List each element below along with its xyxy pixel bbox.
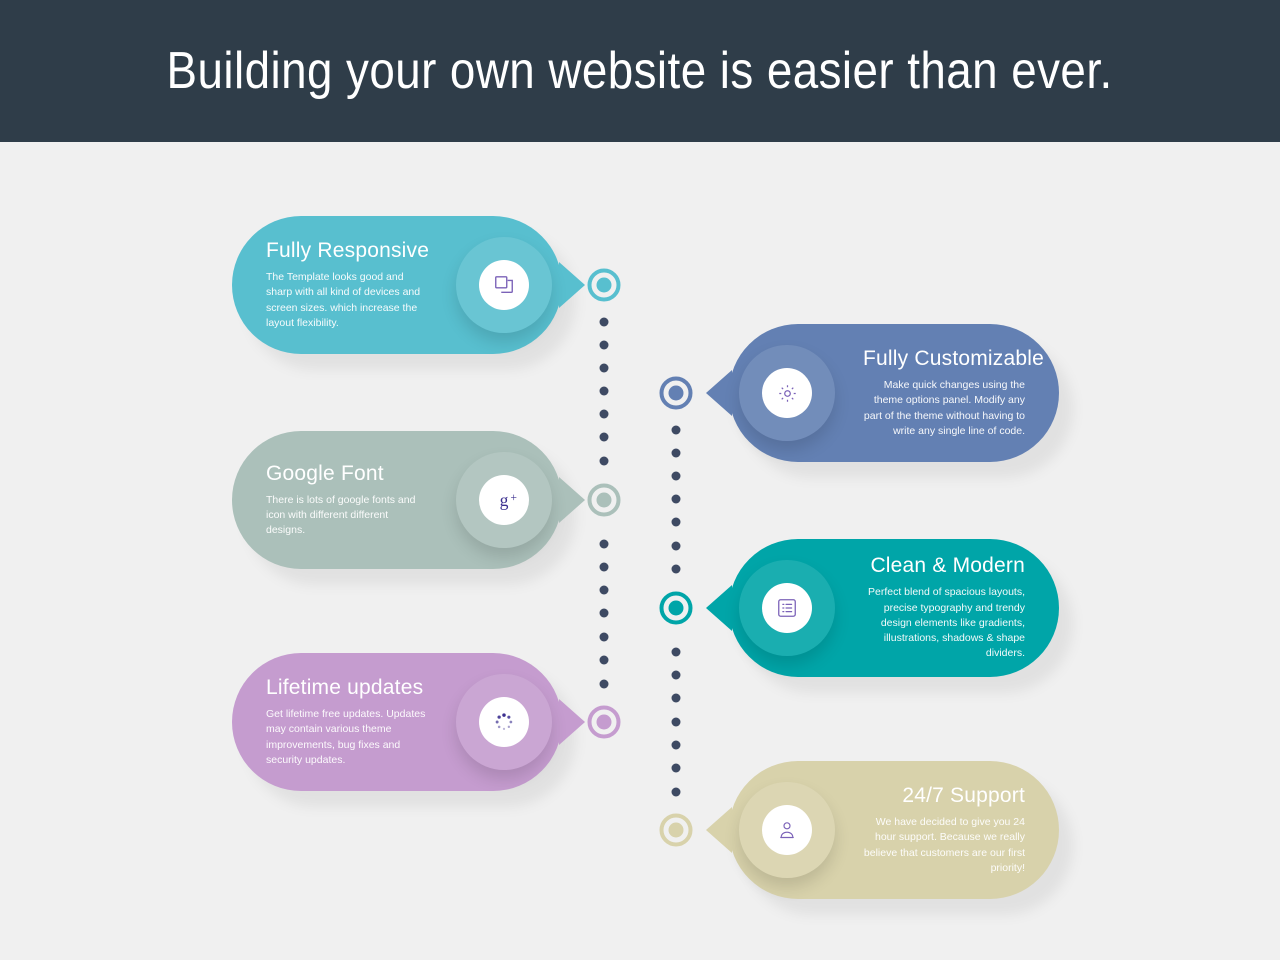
timeline-dot <box>672 426 681 435</box>
timeline-dot <box>672 565 681 574</box>
timeline-dot <box>600 586 609 595</box>
card-pointer-tail <box>706 585 732 631</box>
timeline-node-core <box>669 823 684 838</box>
card-icon-cluster: g+ <box>456 452 552 548</box>
timeline-dot <box>600 563 609 572</box>
timeline-dot <box>672 741 681 750</box>
timeline-node-core <box>597 715 612 730</box>
card-text-block: Fully ResponsiveThe Template looks good … <box>232 239 428 331</box>
card-pointer-tail <box>559 477 585 523</box>
timeline-dot <box>600 540 609 549</box>
card-title: Fully Responsive <box>266 239 428 263</box>
feature-card-fully-customizable[interactable]: Fully CustomizableMake quick changes usi… <box>729 324 1059 462</box>
timeline-dot <box>672 542 681 551</box>
timeline-node-fully-customizable[interactable] <box>660 377 693 410</box>
user-icon[interactable] <box>762 805 812 855</box>
feature-card-google-font[interactable]: g+Google FontThere is lots of google fon… <box>232 431 562 569</box>
timeline-node-clean-modern[interactable] <box>660 592 693 625</box>
card-pointer-tail <box>706 807 732 853</box>
timeline-dot <box>672 518 681 527</box>
timeline-dot <box>672 764 681 773</box>
timeline-dot <box>672 694 681 703</box>
card-pointer-tail <box>706 370 732 416</box>
timeline-node-core <box>669 386 684 401</box>
timeline-node-fully-responsive[interactable] <box>588 269 621 302</box>
timeline-dot <box>600 633 609 642</box>
timeline-dot <box>600 410 609 419</box>
page-header: Building your own website is easier than… <box>0 0 1280 142</box>
card-text-block: Google FontThere is lots of google fonts… <box>232 462 428 539</box>
card-icon-cluster <box>739 560 835 656</box>
page-title: Building your own website is easier than… <box>167 41 1113 101</box>
timeline-dot <box>672 648 681 657</box>
card-title: Google Font <box>266 462 428 486</box>
card-title: Clean & Modern <box>863 554 1025 578</box>
feature-card-clean-modern[interactable]: Clean & ModernPerfect blend of spacious … <box>729 539 1059 677</box>
card-title: Fully Customizable <box>863 347 1025 371</box>
timeline-dot <box>672 472 681 481</box>
infographic-canvas: Building your own website is easier than… <box>0 0 1280 960</box>
card-description: The Template looks good and sharp with a… <box>266 270 428 331</box>
list-icon[interactable] <box>762 583 812 633</box>
card-text-block: Lifetime updatesGet lifetime free update… <box>232 676 428 768</box>
timeline-dot <box>672 495 681 504</box>
card-icon-cluster <box>456 237 552 333</box>
timeline-dot <box>672 449 681 458</box>
timeline-dot <box>672 671 681 680</box>
copy-icon[interactable] <box>479 260 529 310</box>
card-icon-cluster <box>456 674 552 770</box>
card-title: Lifetime updates <box>266 676 428 700</box>
card-description: Get lifetime free updates. Updates may c… <box>266 707 428 768</box>
timeline-dot <box>600 457 609 466</box>
card-text-block: Fully CustomizableMake quick changes usi… <box>863 347 1059 439</box>
spinner-icon[interactable] <box>479 697 529 747</box>
timeline-node-lifetime-updates[interactable] <box>588 706 621 739</box>
card-text-block: Clean & ModernPerfect blend of spacious … <box>863 554 1059 661</box>
timeline-dot <box>672 718 681 727</box>
card-pointer-tail <box>559 699 585 745</box>
card-icon-cluster <box>739 782 835 878</box>
card-title: 24/7 Support <box>863 784 1025 808</box>
feature-card-fully-responsive[interactable]: Fully ResponsiveThe Template looks good … <box>232 216 562 354</box>
timeline-dot <box>600 656 609 665</box>
card-description: Make quick changes using the theme optio… <box>863 378 1025 439</box>
card-pointer-tail <box>559 262 585 308</box>
google-plus-icon[interactable]: g+ <box>479 475 529 525</box>
card-icon-cluster <box>739 345 835 441</box>
timeline-node-core <box>669 601 684 616</box>
card-description: There is lots of google fonts and icon w… <box>266 493 428 539</box>
svg-text:+: + <box>510 492 516 504</box>
timeline-node-core <box>597 493 612 508</box>
card-description: We have decided to give you 24 hour supp… <box>863 815 1025 876</box>
feature-card-support[interactable]: 24/7 SupportWe have decided to give you … <box>729 761 1059 899</box>
feature-card-lifetime-updates[interactable]: Lifetime updatesGet lifetime free update… <box>232 653 562 791</box>
timeline-dot <box>600 387 609 396</box>
timeline-dot <box>600 364 609 373</box>
svg-text:g: g <box>500 490 509 510</box>
card-text-block: 24/7 SupportWe have decided to give you … <box>863 784 1059 876</box>
timeline-node-core <box>597 278 612 293</box>
timeline-dot <box>672 788 681 797</box>
timeline-node-google-font[interactable] <box>588 484 621 517</box>
timeline-dot <box>600 341 609 350</box>
timeline-node-support[interactable] <box>660 814 693 847</box>
gear-icon[interactable] <box>762 368 812 418</box>
timeline-dot <box>600 318 609 327</box>
timeline-dot <box>600 433 609 442</box>
timeline-dot <box>600 680 609 689</box>
timeline-dot <box>600 609 609 618</box>
card-description: Perfect blend of spacious layouts, preci… <box>863 585 1025 661</box>
